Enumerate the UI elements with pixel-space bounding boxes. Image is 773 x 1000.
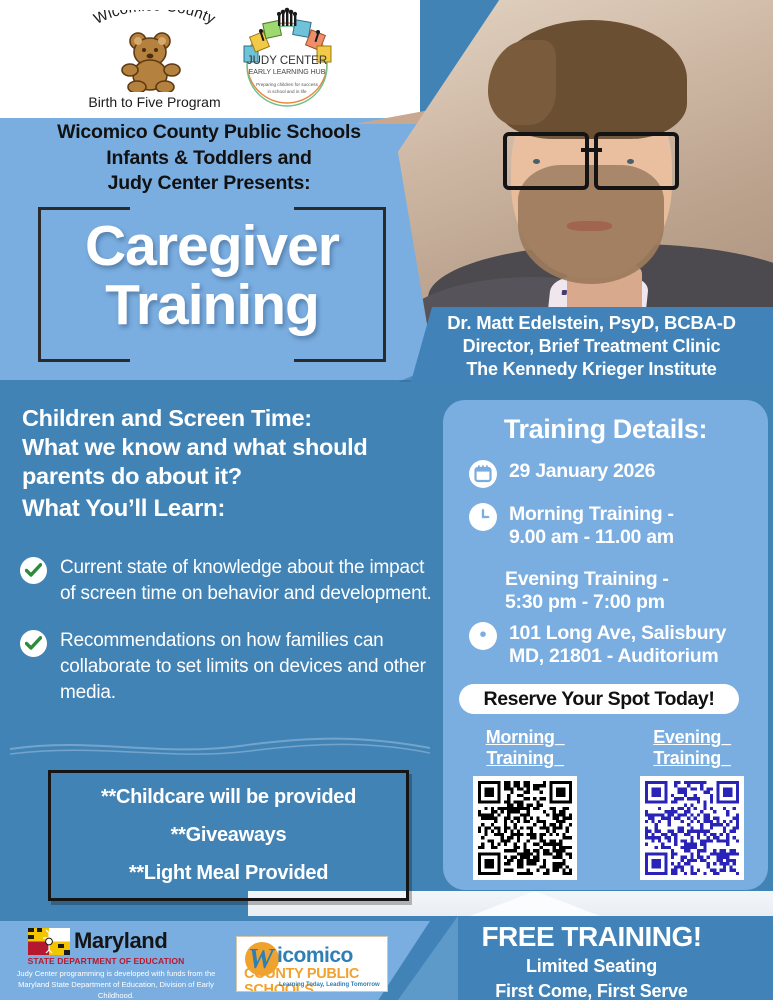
- qr-morning-label-line-2: Training_: [486, 748, 563, 768]
- free-training-line-2: First Come, First Serve: [410, 980, 773, 1000]
- detail-evening-line-1: Evening Training -: [505, 568, 669, 590]
- organization-heading: Wicomico County Public Schools Infants &…: [0, 120, 418, 197]
- speaker-name: Dr. Matt Edelstein, PsyD, BCBA-D: [410, 311, 773, 335]
- qr-evening-label-line-1: Evening_: [653, 727, 731, 747]
- judy-title-2: EARLY LEARNING HUB: [249, 69, 326, 76]
- list-item: Recommendations on how families can coll…: [20, 628, 440, 705]
- location-pin-icon: [469, 622, 497, 650]
- perk-item-1: **Childcare will be provided: [101, 786, 356, 809]
- maryland-flag-icon: [28, 928, 70, 955]
- qr-morning[interactable]: [473, 776, 577, 880]
- maryland-wordmark: Maryland: [74, 928, 167, 954]
- wcps-line-1: icomico: [277, 944, 353, 968]
- detail-location: 101 Long Ave, Salisbury MD, 21801 - Audi…: [509, 622, 726, 669]
- topic-line-3: parents do about it?: [22, 462, 434, 491]
- detail-evening-time: Evening Training - 5:30 pm - 7:00 pm: [505, 568, 669, 615]
- detail-date: 29 January 2026: [509, 460, 655, 483]
- reserve-spot-banner[interactable]: Reserve Your Spot Today!: [459, 684, 739, 714]
- qr-evening[interactable]: [640, 776, 744, 880]
- topic-line-1: Children and Screen Time:: [22, 404, 434, 433]
- teddy-bear-icon: [110, 30, 196, 92]
- perk-item-3: **Light Meal Provided: [129, 862, 328, 885]
- qr-evening-label-line-2: Training_: [653, 748, 730, 768]
- free-training-line-1: Limited Seating: [410, 955, 773, 978]
- learn-heading: What You’ll Learn:: [22, 495, 434, 523]
- list-item-label: Recommendations on how families can coll…: [60, 628, 440, 705]
- wcps-logo: W icomico COUNTY PUBLIC SCHOOLS Learning…: [236, 936, 388, 992]
- maryland-sde-subtitle: STATE DEPARTMENT OF EDUCATION: [0, 956, 212, 966]
- detail-row-date: 29 January 2026: [469, 460, 655, 488]
- speaker-band: Dr. Matt Edelstein, PsyD, BCBA-D Directo…: [410, 307, 773, 385]
- detail-row-location: 101 Long Ave, Salisbury MD, 21801 - Audi…: [469, 622, 726, 669]
- flyer-poster: Wicomico County Birth to Five Program: [0, 0, 773, 1000]
- list-item-label: Current state of knowledge about the imp…: [60, 555, 440, 606]
- detail-morning-line-2: 9.00 am - 11.00 am: [509, 526, 674, 548]
- topic-line-2: What we know and what should: [22, 433, 434, 462]
- judy-title-3: Preparing children for success: [256, 82, 318, 87]
- wcps-line-3: Learning Today, Leading Tomorrow: [279, 982, 380, 988]
- list-item: Current state of knowledge about the imp…: [20, 555, 440, 606]
- detail-row-evening: Evening Training - 5:30 pm - 7:00 pm: [505, 568, 669, 615]
- check-circle-icon: [20, 630, 47, 657]
- qr-morning-block[interactable]: Morning_ Training_: [465, 727, 585, 880]
- wicomico-birth-to-five-logo: Wicomico County Birth to Five Program: [62, 8, 247, 114]
- maryland-sde-logo: Maryland: [28, 928, 210, 958]
- topic-heading: Children and Screen Time: What we know a…: [22, 404, 434, 491]
- check-circle-icon: [20, 557, 47, 584]
- bear-caption: Birth to Five Program: [62, 94, 247, 110]
- calendar-icon: [469, 460, 497, 488]
- judy-center-logo: JUDY CENTER EARLY LEARNING HUB Preparing…: [228, 6, 346, 114]
- svg-text:Wicomico County: Wicomico County: [91, 10, 218, 28]
- page-title-line-2: Training: [38, 276, 386, 335]
- qr-evening-label: Evening_ Training_: [632, 727, 752, 769]
- judy-center-logo-svg: JUDY CENTER EARLY LEARNING HUB Preparing…: [228, 6, 346, 114]
- page-title-frame: Caregiver Training: [38, 207, 386, 362]
- page-title-line-1: Caregiver: [38, 217, 386, 276]
- clock-icon: [469, 503, 497, 531]
- funding-fine-print: Judy Center programming is developed wit…: [10, 968, 222, 1000]
- bear-arc-label: Wicomico County: [91, 10, 218, 28]
- perks-box: **Childcare will be provided **Giveaways…: [48, 770, 409, 901]
- qr-evening-block[interactable]: Evening_ Training_: [632, 727, 752, 880]
- detail-morning-time: Morning Training - 9.00 am - 11.00 am: [509, 503, 674, 550]
- org-line-2: Infants & Toddlers and: [0, 146, 418, 172]
- detail-row-morning: Morning Training - 9.00 am - 11.00 am: [469, 503, 674, 550]
- speaker-photo: [398, 0, 773, 330]
- detail-evening-line-2: 5:30 pm - 7:00 pm: [505, 591, 665, 613]
- judy-title-4: in school and in life: [267, 89, 307, 94]
- detail-location-line-2: MD, 21801 - Auditorium: [509, 645, 718, 667]
- page-title: Caregiver Training: [38, 217, 386, 334]
- detail-location-line-1: 101 Long Ave, Salisbury: [509, 622, 726, 644]
- detail-morning-line-1: Morning Training -: [509, 503, 674, 525]
- qr-morning-label: Morning_ Training_: [465, 727, 585, 769]
- wave-divider: [10, 735, 430, 757]
- free-training-heading: FREE TRAINING!: [410, 921, 773, 953]
- speaker-org: The Kennedy Krieger Institute: [410, 358, 773, 381]
- wcps-line-2: COUNTY PUBLIC SCHOOLS: [244, 966, 387, 992]
- training-details-title: Training Details:: [443, 414, 768, 445]
- qr-morning-label-line-1: Morning_: [486, 727, 565, 747]
- free-training-block: FREE TRAINING! Limited Seating First Com…: [410, 921, 773, 1000]
- learn-bullet-list: Current state of knowledge about the imp…: [20, 555, 440, 727]
- org-line-3: Judy Center Presents:: [0, 171, 418, 197]
- perk-item-2: **Giveaways: [171, 824, 287, 847]
- judy-title-1: JUDY CENTER: [247, 55, 327, 67]
- speaker-role: Director, Brief Treatment Clinic: [410, 335, 773, 358]
- org-line-1: Wicomico County Public Schools: [0, 120, 418, 146]
